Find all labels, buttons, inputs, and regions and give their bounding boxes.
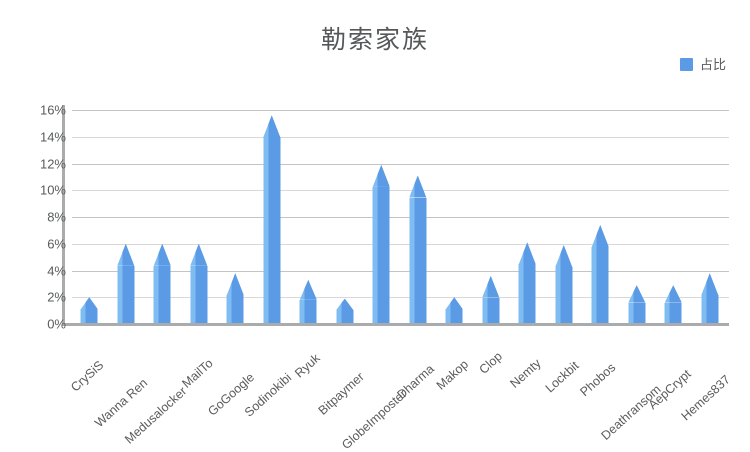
bar-cap <box>336 299 353 310</box>
bar-column[interactable] <box>437 110 472 324</box>
bar-column[interactable] <box>145 110 180 324</box>
bar-body <box>81 309 98 324</box>
bar-body <box>628 303 645 324</box>
bar-body <box>665 303 682 324</box>
bar-cap <box>81 297 98 309</box>
bar[interactable] <box>409 176 426 324</box>
x-axis-tick-label-text: CrySiS <box>68 358 106 394</box>
x-axis-label-slot: GlobeImposter <box>364 328 399 424</box>
x-axis-tick-label-text: Ryuk <box>292 351 323 380</box>
x-axis-tick-label-text: MailTo <box>179 356 215 391</box>
bar-column[interactable] <box>656 110 691 324</box>
bar-column[interactable] <box>218 110 253 324</box>
bar[interactable] <box>446 297 463 324</box>
bar[interactable] <box>628 285 645 324</box>
bar-column[interactable] <box>474 110 509 324</box>
y-axis-tick-label: 8% <box>6 210 66 225</box>
x-axis-tick-label-text: Nemty <box>508 356 544 391</box>
bar-body <box>555 267 572 324</box>
bar-body <box>701 295 718 324</box>
legend-label: 占比 <box>700 58 726 71</box>
bar-cap <box>628 285 645 302</box>
plot-area <box>72 110 729 324</box>
bar-cap <box>555 245 572 267</box>
bar-cap <box>409 176 426 198</box>
bar[interactable] <box>482 276 499 324</box>
bar-column[interactable] <box>547 110 582 324</box>
bar-body <box>190 266 207 324</box>
bar-body <box>263 137 280 324</box>
bar[interactable] <box>300 280 317 324</box>
x-axis-label-slot: Lockbit <box>547 328 582 424</box>
bar-body <box>446 309 463 324</box>
x-axis-label-slot: Deathransom <box>620 328 655 424</box>
bar[interactable] <box>555 245 572 324</box>
bar[interactable] <box>701 273 718 324</box>
x-axis-label-slot: Sodinokibi <box>255 328 290 424</box>
bar-cap <box>117 244 134 266</box>
x-axis-label-slot: Dharma <box>401 328 436 424</box>
y-axis-tick-label: 12% <box>6 156 66 171</box>
chart-legend: 占比 <box>680 55 726 73</box>
bar-cap <box>701 273 718 295</box>
y-axis-tick-label: 10% <box>6 183 66 198</box>
x-axis-label-slot: Nemty <box>510 328 545 424</box>
bar-body <box>227 295 244 324</box>
bar[interactable] <box>336 299 353 324</box>
x-axis-tick-label-text: Clop <box>476 349 504 377</box>
bar[interactable] <box>154 244 171 324</box>
bar-column[interactable] <box>510 110 545 324</box>
bar-cap <box>592 225 609 247</box>
bar[interactable] <box>117 244 134 324</box>
bar-body <box>409 198 426 324</box>
bar-body <box>592 247 609 324</box>
x-axis-tick-label-text: Dharma <box>394 362 436 402</box>
y-axis-tick-label: 0% <box>6 317 66 332</box>
chart-title: 勒索家族 <box>0 20 750 56</box>
bar-column[interactable] <box>109 110 144 324</box>
x-axis-label-slot: Phobos <box>583 328 618 424</box>
bar-cap <box>446 297 463 309</box>
bar-body <box>336 310 353 324</box>
y-axis-tick-label: 2% <box>6 290 66 305</box>
bar-cap <box>190 244 207 266</box>
bar-cap <box>227 273 244 295</box>
bar[interactable] <box>81 297 98 324</box>
y-axis-tick-label: 4% <box>6 263 66 278</box>
x-axis-tick-label-text: Phobos <box>578 360 619 399</box>
x-axis-line <box>62 323 729 326</box>
bar[interactable] <box>592 225 609 324</box>
bar-cap <box>519 242 536 264</box>
y-axis-tick-label: 14% <box>6 129 66 144</box>
y-axis-tick-label: 6% <box>6 236 66 251</box>
bar-body <box>117 266 134 324</box>
x-axis-label-slot: Makop <box>437 328 472 424</box>
bar[interactable] <box>373 165 390 324</box>
bar-cap <box>263 115 280 137</box>
bar-column[interactable] <box>583 110 618 324</box>
bar-column[interactable] <box>364 110 399 324</box>
bar-cap <box>665 285 682 302</box>
x-axis-label-slot: Medusalocker <box>145 328 180 424</box>
bar-column[interactable] <box>693 110 728 324</box>
bar-column[interactable] <box>291 110 326 324</box>
bar[interactable] <box>665 285 682 324</box>
bar-column[interactable] <box>328 110 363 324</box>
bar-cap <box>373 165 390 187</box>
bar-cap <box>482 276 499 298</box>
bar-column[interactable] <box>620 110 655 324</box>
y-axis-tick-label: 16% <box>6 103 66 118</box>
chart-container: 勒索家族 占比 CrySiSWanna RenMedusalockerMailT… <box>0 0 750 428</box>
x-axis-label-slot: Clop <box>474 328 509 424</box>
bar-body <box>373 187 390 324</box>
x-axis-label-slot: Hemes837 <box>693 328 728 424</box>
bar-body <box>482 298 499 324</box>
bar[interactable] <box>519 242 536 324</box>
bar[interactable] <box>190 244 207 324</box>
bar[interactable] <box>227 273 244 324</box>
bar-column[interactable] <box>255 110 290 324</box>
x-axis-label-slot: Wanna Ren <box>109 328 144 424</box>
bar-column[interactable] <box>72 110 107 324</box>
bar-cap <box>154 244 171 266</box>
bar-cap <box>300 280 317 300</box>
x-axis-label-slot: Bitpaymer <box>328 328 363 424</box>
bar[interactable] <box>263 115 280 324</box>
bar-body <box>154 266 171 324</box>
bar-body <box>519 264 536 324</box>
x-axis-tick-label-text: Lockbit <box>542 359 581 396</box>
bar-body <box>300 300 317 324</box>
legend-swatch-占比 <box>680 58 693 71</box>
bar-column[interactable] <box>401 110 436 324</box>
x-axis-labels: CrySiSWanna RenMedusalockerMailToGoGoogl… <box>72 328 729 424</box>
x-axis-tick-label-text: Makop <box>434 357 471 393</box>
bar-series <box>72 110 729 324</box>
bar-column[interactable] <box>182 110 217 324</box>
